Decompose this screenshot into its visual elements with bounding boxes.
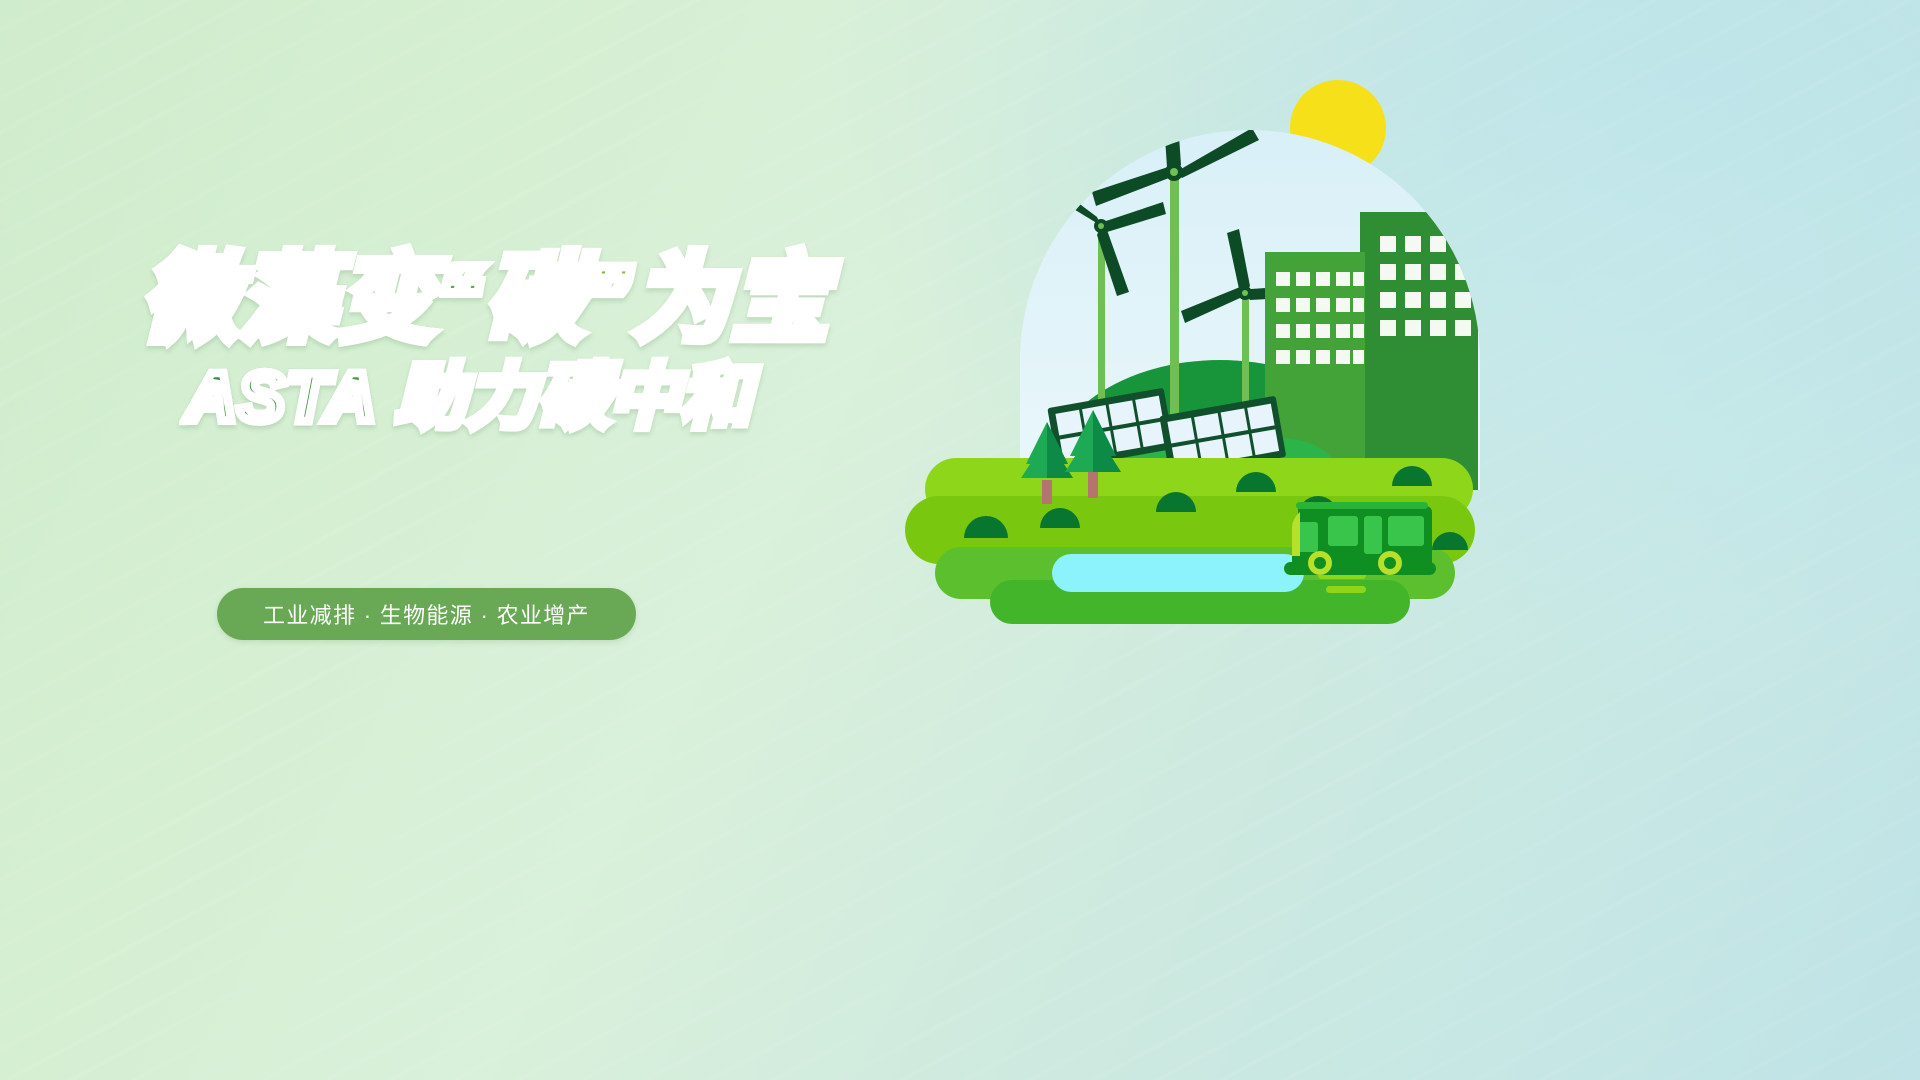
page-title: 微藻变“碳”为宝 — [142, 252, 862, 348]
headline-block: 微藻变“碳”为宝 ASTA 助力碳中和 — [142, 252, 862, 432]
eco-banner: 微藻变“碳”为宝 ASTA 助力碳中和 工业减排 · 生物能源 · 农业增产 — [0, 0, 1920, 1080]
tagline-badge: 工业减排 · 生物能源 · 农业增产 — [217, 588, 636, 640]
green-city-illustration — [980, 60, 1620, 660]
tagline-text: 工业减排 · 生物能源 · 农业增产 — [263, 598, 590, 630]
bus-icon — [1284, 502, 1436, 575]
page-subtitle: ASTA 助力碳中和 — [186, 362, 862, 432]
